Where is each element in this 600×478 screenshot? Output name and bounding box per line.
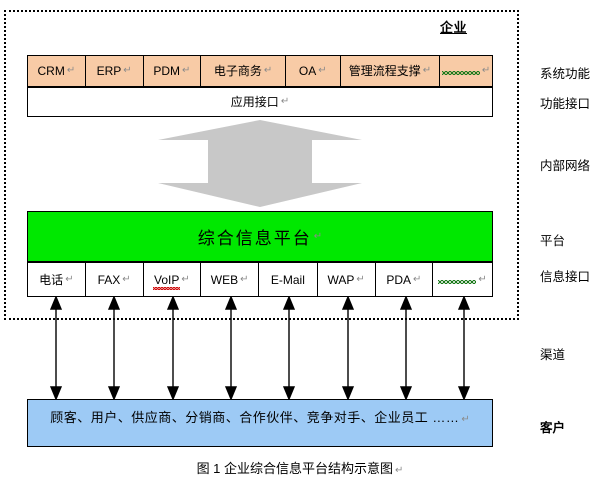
system-function-cell[interactable]: PDM↵ <box>144 56 202 86</box>
paragraph-mark-icon: ↵ <box>122 275 130 285</box>
information-interface-cell[interactable]: E-Mail <box>259 263 318 296</box>
cell-label: PDA <box>386 274 411 286</box>
paragraph-mark-icon: ↵ <box>240 275 248 285</box>
paragraph-mark-icon: ↵ <box>461 414 469 425</box>
paragraph-mark-icon: ↵ <box>281 97 289 107</box>
paragraph-mark-icon: ↵ <box>264 66 272 76</box>
paragraph-mark-icon: ↵ <box>356 275 364 285</box>
side-label-internal-network: 内部网络 <box>540 155 590 174</box>
customers-label: 顾客、用户、供应商、分销商、合作伙伴、竞争对手、企业员工 …… <box>50 410 459 425</box>
figure-caption: 图 1 企业综合信息平台结构示意图↵ <box>0 458 600 477</box>
enterprise-title: 企业 <box>440 17 467 36</box>
system-functions-row: CRM↵ ERP↵ PDM↵ 电子商务↵ OA↵ 管理流程支撑↵ ↵ <box>27 55 493 87</box>
application-interface-cell[interactable]: 应用接口↵ <box>28 88 492 116</box>
cell-label: 应用接口 <box>231 96 279 108</box>
information-interface-cell[interactable]: FAX↵ <box>86 263 144 296</box>
paragraph-mark-icon: ↵ <box>67 66 75 76</box>
application-interface-row: 应用接口↵ <box>27 87 493 117</box>
system-function-cell[interactable]: ↵ <box>440 56 492 86</box>
information-interface-cell[interactable]: ↵ <box>433 263 492 296</box>
paragraph-mark-icon: ↵ <box>65 275 73 285</box>
system-function-cell[interactable]: CRM↵ <box>28 56 86 86</box>
integrated-information-platform[interactable]: 综合信息平台↵ <box>27 211 493 262</box>
paragraph-mark-icon: ↵ <box>123 66 131 76</box>
cell-label: VoIP <box>154 274 179 286</box>
side-label-customer: 客户 <box>540 417 565 436</box>
spellcheck-squiggle-icon <box>442 66 480 76</box>
information-interface-cell[interactable]: VoIP↵ <box>144 263 202 296</box>
paragraph-mark-icon: ↵ <box>318 66 326 76</box>
customers-box[interactable]: 顾客、用户、供应商、分销商、合作伙伴、竞争对手、企业员工 ……↵ <box>27 399 493 447</box>
cell-label: PDM <box>153 65 180 77</box>
cell-label: WAP <box>327 274 354 286</box>
caption-text: 图 1 企业综合信息平台结构示意图 <box>197 461 393 476</box>
paragraph-mark-icon: ↵ <box>413 275 421 285</box>
paragraph-mark-icon: ↵ <box>395 465 403 476</box>
cell-label: FAX <box>98 274 121 286</box>
cell-label: WEB <box>211 274 238 286</box>
paragraph-mark-icon: ↵ <box>181 275 189 285</box>
cell-label: OA <box>299 65 316 77</box>
paragraph-mark-icon: ↵ <box>182 66 190 76</box>
side-label-system-functions: 系统功能 <box>540 63 590 82</box>
cell-label: 管理流程支撑 <box>349 65 421 77</box>
spellcheck-squiggle-icon <box>438 275 476 285</box>
platform-label: 综合信息平台 <box>198 224 312 249</box>
cell-label: 电子商务 <box>214 65 262 77</box>
side-label-platform: 平台 <box>540 230 565 249</box>
figure-canvas: 企业 <box>0 0 600 478</box>
side-label-information-interface: 信息接口 <box>540 266 590 285</box>
system-function-cell[interactable]: 电子商务↵ <box>201 56 286 86</box>
paragraph-mark-icon: ↵ <box>482 66 490 76</box>
system-function-cell[interactable]: ERP↵ <box>86 56 144 86</box>
information-interfaces-row: 电话↵ FAX↵ VoIP↵ WEB↵ E-Mail WAP↵ PDA↵ ↵ <box>27 262 493 297</box>
system-function-cell[interactable]: OA↵ <box>286 56 341 86</box>
paragraph-mark-icon: ↵ <box>478 275 486 285</box>
information-interface-cell[interactable]: WAP↵ <box>318 263 376 296</box>
side-label-channel: 渠道 <box>540 344 565 363</box>
information-interface-cell[interactable]: WEB↵ <box>201 263 259 296</box>
paragraph-mark-icon: ↵ <box>314 231 322 242</box>
side-label-function-interface: 功能接口 <box>540 93 590 112</box>
cell-label: 电话 <box>39 274 63 286</box>
cell-label: ERP <box>97 65 122 77</box>
cell-label: E-Mail <box>271 274 305 286</box>
cell-label: CRM <box>38 65 65 77</box>
paragraph-mark-icon: ↵ <box>423 66 431 76</box>
system-function-cell[interactable]: 管理流程支撑↵ <box>341 56 441 86</box>
information-interface-cell[interactable]: PDA↵ <box>376 263 434 296</box>
information-interface-cell[interactable]: 电话↵ <box>28 263 86 296</box>
